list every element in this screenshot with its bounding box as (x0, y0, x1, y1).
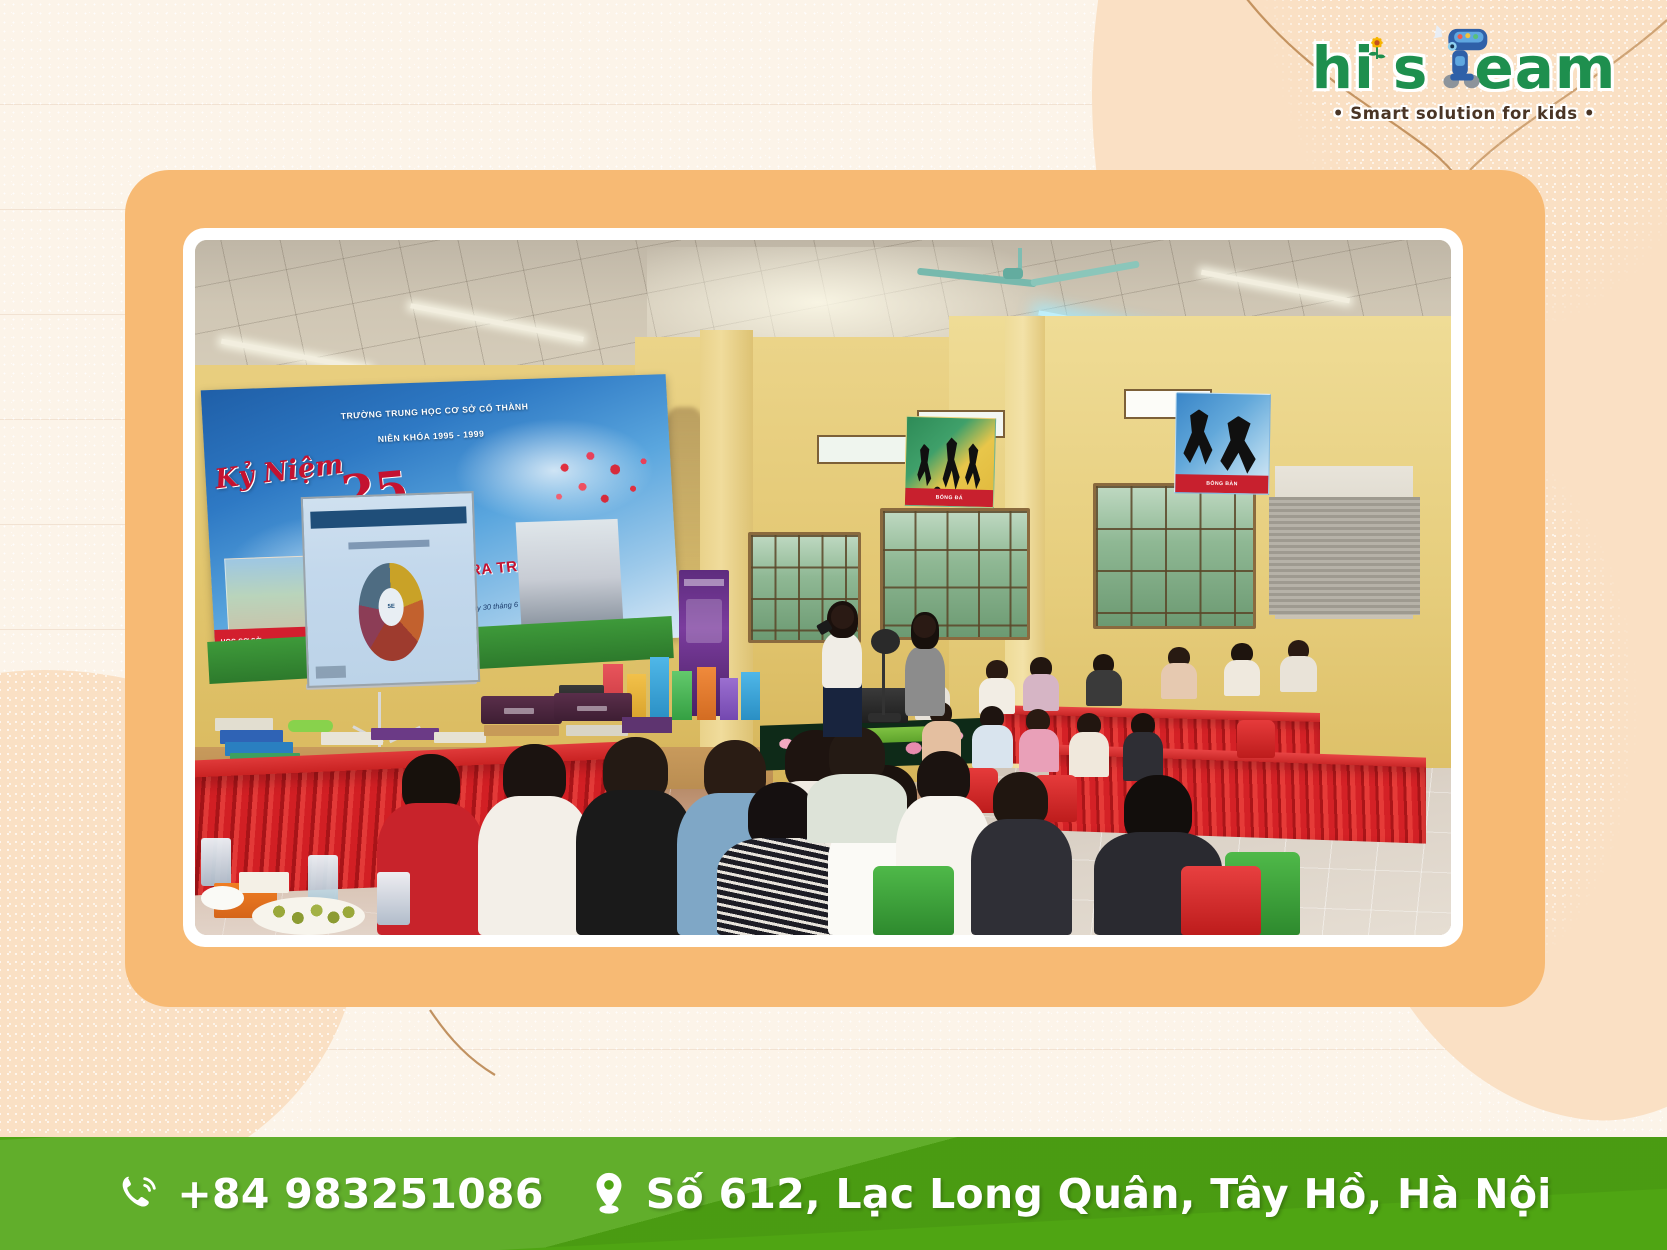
slide-footer-logo (316, 666, 347, 678)
kit-box-green (288, 720, 333, 733)
football-player-silhouette (963, 443, 984, 491)
banner-flower-decor (538, 438, 664, 532)
attendee-body (807, 774, 907, 844)
slide-subtitle (349, 539, 430, 549)
window (880, 508, 1031, 640)
attendee-body (1019, 729, 1059, 772)
photo-frame: BÓNG ĐÁ BÓNG BÀN TRƯỜNG TRUNG HỌC CƠ SỞ … (125, 170, 1545, 1007)
attendee-body-back (478, 796, 591, 935)
contact-footer: +84 983251086 Số 612, Lạc Long Quân, Tây… (0, 1137, 1667, 1250)
vex-logo (504, 708, 534, 714)
brand-logo[interactable]: h i s eam (1299, 26, 1629, 136)
poster-table-tennis-label: BÓNG BÀN (1175, 474, 1269, 493)
pedestal-fan-pole (882, 653, 885, 716)
rollup-image (686, 599, 722, 643)
sunflower-icon (1364, 33, 1390, 59)
footer-phone[interactable]: +84 983251086 (115, 1170, 543, 1218)
attendee-body (1123, 732, 1163, 781)
logo-letters-eam: eam (1474, 39, 1616, 97)
attendee-body (1086, 670, 1122, 706)
attendee-body (1023, 674, 1059, 710)
kit-box (622, 717, 672, 734)
poster-football-label: BÓNG ĐÁ (904, 488, 993, 508)
footer-phone-number: +84 983251086 (177, 1170, 543, 1218)
speaker-skirt (823, 681, 862, 737)
construction-block (672, 671, 692, 720)
phone-call-icon (115, 1171, 161, 1217)
attendee-striped-top (717, 838, 845, 935)
roller-shutter (1269, 497, 1420, 615)
kit-box (371, 728, 439, 741)
footer-address-text: Số 612, Lạc Long Quân, Tây Hồ, Hà Nội (646, 1170, 1552, 1218)
logo-letter-s: s (1393, 39, 1429, 97)
rollup-title (684, 579, 724, 586)
kit-box (215, 718, 273, 731)
logo-wordmark: h i s eam (1312, 39, 1617, 97)
attendee-body (1280, 656, 1316, 692)
photo-white-border: BÓNG ĐÁ BÓNG BÀN TRƯỜNG TRUNG HỌC CƠ SỞ … (183, 228, 1463, 947)
football-player-silhouette (916, 444, 935, 489)
water-bottle (377, 872, 410, 924)
attendee-body (1161, 663, 1197, 699)
banner-script-ky-niem: Kỷ Niệm (213, 449, 346, 495)
construction-block (650, 657, 669, 720)
table-tennis-player-silhouette (1218, 416, 1260, 478)
cup (201, 886, 244, 910)
wall-pillar (700, 330, 753, 789)
attendee-body (1224, 660, 1260, 696)
logo-letter-h: h (1312, 39, 1354, 97)
red-chair (1237, 720, 1275, 759)
slide-title-bar (310, 506, 466, 528)
footer-address[interactable]: Số 612, Lạc Long Quân, Tây Hồ, Hà Nội (588, 1170, 1552, 1218)
poster-table-tennis: BÓNG BÀN (1174, 392, 1271, 494)
table-tennis-player-silhouette (1181, 409, 1216, 471)
attendee-body-back (576, 790, 694, 935)
water-bottle (201, 838, 231, 887)
pedestal-fan-head (871, 629, 900, 654)
event-photograph: BÓNG ĐÁ BÓNG BÀN TRƯỜNG TRUNG HỌC CƠ SỞ … (195, 240, 1451, 935)
standing-attendee-body (905, 647, 945, 717)
construction-block (741, 672, 760, 719)
football-player-silhouette (940, 437, 963, 492)
map-pin-icon (588, 1171, 630, 1217)
ceiling-fan-hub (1003, 268, 1023, 279)
speaker-body (822, 633, 862, 689)
robot-mascot-icon (1430, 23, 1492, 99)
green-chair (873, 866, 953, 936)
attendee-body (972, 725, 1012, 768)
logo-tagline: • Smart solution for kids • (1333, 104, 1595, 123)
kit-box (484, 725, 559, 736)
construction-block (697, 667, 716, 719)
construction-block (720, 678, 738, 720)
kit-box (434, 732, 487, 743)
vex-logo (577, 706, 607, 712)
transom-window (817, 435, 917, 464)
attendee-body (1069, 732, 1109, 776)
poster-football: BÓNG ĐÁ (903, 416, 996, 509)
standing-attendee-head (913, 615, 936, 637)
tissue-box-white (239, 872, 289, 893)
speaker-head (831, 605, 855, 629)
red-chair (1181, 866, 1261, 936)
attendee-body (971, 819, 1071, 935)
kit-box (566, 725, 629, 736)
projector-screen: 5E (301, 491, 481, 688)
window (1093, 483, 1256, 629)
